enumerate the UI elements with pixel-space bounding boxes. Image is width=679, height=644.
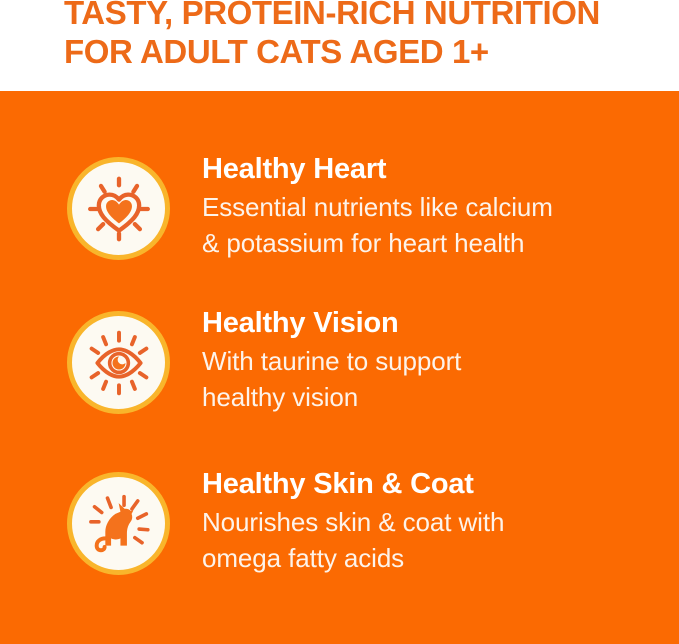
benefit-heading: Healthy Skin & Coat (202, 466, 679, 502)
infographic-page: TASTY, PROTEIN-RICH NUTRITION FOR ADULT … (0, 0, 679, 644)
benefit-icon-badge (67, 157, 170, 260)
benefit-text-block: Healthy Vision With taurine to support h… (202, 305, 679, 415)
benefit-row-healthy-heart: Healthy Heart Essential nutrients like c… (0, 151, 679, 281)
benefit-row-healthy-skin-coat: Healthy Skin & Coat Nourishes skin & coa… (0, 466, 679, 596)
benefits-panel: Healthy Heart Essential nutrients like c… (0, 91, 679, 644)
heart-rays-icon (83, 173, 155, 245)
benefit-heading: Healthy Vision (202, 305, 679, 341)
benefit-text-block: Healthy Heart Essential nutrients like c… (202, 151, 679, 261)
benefit-text-block: Healthy Skin & Coat Nourishes skin & coa… (202, 466, 679, 576)
benefit-body: With taurine to support healthy vision (202, 343, 679, 415)
eye-rays-icon (83, 327, 155, 399)
page-title: TASTY, PROTEIN-RICH NUTRITION FOR ADULT … (64, 0, 664, 71)
benefit-icon-badge (67, 472, 170, 575)
cat-rays-icon (83, 488, 155, 560)
benefit-heading: Healthy Heart (202, 151, 679, 187)
header-band: TASTY, PROTEIN-RICH NUTRITION FOR ADULT … (0, 0, 679, 91)
benefit-icon-badge (67, 311, 170, 414)
benefit-body: Nourishes skin & coat with omega fatty a… (202, 504, 679, 576)
benefit-row-healthy-vision: Healthy Vision With taurine to support h… (0, 305, 679, 435)
benefit-body: Essential nutrients like calcium & potas… (202, 189, 679, 261)
